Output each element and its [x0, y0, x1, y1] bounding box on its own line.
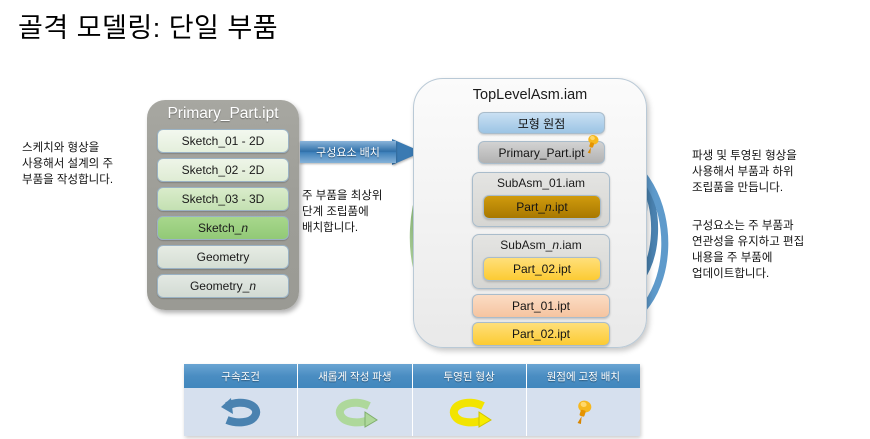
legend-header-row: 구속조건 새롭게 작성 파생 투영된 형상 원점에 고정 배치 — [184, 364, 640, 388]
green-curved-arrow-icon — [325, 394, 385, 430]
list-item-label: Geometry — [197, 250, 250, 264]
diagram-canvas: 골격 모델링: 단일 부품 스케치와 형상을 사용해서 설계의 주 부품을 작성… — [0, 0, 870, 439]
page-title: 골격 모델링: 단일 부품 — [18, 6, 278, 45]
loose-part-node[interactable]: Part_01.ipt — [472, 294, 610, 318]
loose-part-node[interactable]: Part_02.ipt — [472, 322, 610, 346]
list-item[interactable]: Sketch_02 - 2D — [157, 158, 289, 182]
list-item-label: Part_02.ipt — [513, 262, 571, 276]
model-origin-label: 모형 원점 — [518, 115, 566, 132]
list-item-label: Geometry_n — [190, 279, 256, 293]
legend-header-cell: 원점에 고정 배치 — [527, 364, 640, 388]
list-item[interactable]: Geometry_n — [157, 274, 289, 298]
legend-header-cell: 투영된 형상 — [413, 364, 527, 388]
subassembly-title: SubAsm_01.iam — [473, 176, 609, 190]
legend: 구속조건 새롭게 작성 파생 투영된 형상 원점에 고정 배치 — [184, 364, 640, 436]
list-item[interactable]: Part_02.ipt — [483, 257, 601, 281]
model-origin-node[interactable]: 모형 원점 — [478, 112, 605, 134]
legend-cell-grounded — [527, 388, 640, 436]
pushpin-icon — [570, 398, 596, 426]
legend-header-cell: 새롭게 작성 파생 — [298, 364, 412, 388]
loose-part-label: Part_02.ipt — [512, 327, 570, 341]
legend-cell-derive — [298, 388, 412, 436]
assembly-title: TopLevelAsm.iam — [414, 87, 646, 103]
subassembly-title: SubAsm_n.iam — [473, 238, 609, 252]
list-item[interactable]: Sketch_n — [157, 216, 289, 240]
list-item[interactable]: Sketch_01 - 2D — [157, 129, 289, 153]
legend-cell-constraint — [184, 388, 298, 436]
banner-label: 구성요소 배치 — [300, 141, 396, 163]
assembly-primary-part-label: Primary_Part.ipt — [498, 146, 584, 160]
blue-curved-arrow-icon — [211, 394, 271, 430]
list-item[interactable]: Geometry — [157, 245, 289, 269]
list-item-label: Sketch_01 - 2D — [182, 134, 265, 148]
subassembly-container[interactable]: SubAsm_01.iam Part_n.ipt — [472, 172, 610, 227]
place-component-banner[interactable]: 구성요소 배치 — [300, 139, 424, 165]
list-item-label: Sketch_02 - 2D — [182, 163, 265, 177]
primary-part-container[interactable]: Primary_Part.ipt Sketch_01 - 2D Sketch_0… — [147, 100, 299, 310]
legend-header-cell: 구속조건 — [184, 364, 298, 388]
primary-part-title: Primary_Part.ipt — [147, 105, 299, 123]
list-item-label: Sketch_03 - 3D — [182, 192, 265, 206]
list-item-label: Part_n.ipt — [516, 200, 567, 214]
list-item-label: Sketch_n — [198, 221, 248, 235]
list-item[interactable]: Part_n.ipt — [483, 195, 601, 219]
subassembly-container[interactable]: SubAsm_n.iam Part_02.ipt — [472, 234, 610, 289]
right-annotation-1: 파생 및 투영된 형상을 사용해서 부품과 하위 조립품을 만듭니다. — [692, 148, 857, 196]
left-annotation: 스케치와 형상을 사용해서 설계의 주 부품을 작성합니다. — [22, 140, 144, 188]
loose-part-label: Part_01.ipt — [512, 299, 570, 313]
list-item[interactable]: Sketch_03 - 3D — [157, 187, 289, 211]
pushpin-icon — [582, 133, 602, 155]
yellow-curved-arrow-icon — [439, 394, 499, 430]
legend-icon-row — [184, 388, 640, 436]
middle-annotation: 주 부품을 최상위 단계 조립품에 배치합니다. — [302, 188, 412, 236]
legend-cell-project — [413, 388, 527, 436]
top-level-assembly-container[interactable]: TopLevelAsm.iam 모형 원점 Primary_Part.ipt S… — [413, 78, 647, 348]
primary-part-item-list: Sketch_01 - 2D Sketch_02 - 2D Sketch_03 … — [157, 129, 289, 303]
right-annotation-2: 구성요소는 주 부품과 연관성을 유지하고 편집 내용을 주 부품에 업데이트합… — [692, 218, 857, 282]
